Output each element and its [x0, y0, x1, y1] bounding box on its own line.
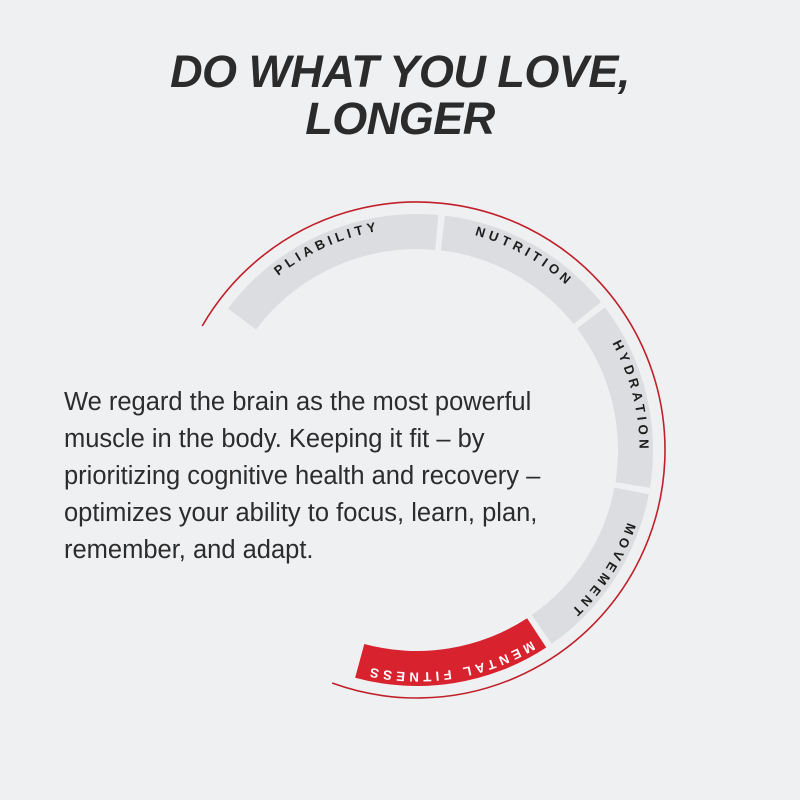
poster-canvas: DO WHAT YOU LOVE, LONGER We regard the b…	[0, 0, 800, 800]
ring-segments	[228, 214, 653, 686]
ring-segment-nutrition[interactable]	[441, 216, 601, 324]
pillars-ring-chart: PLIABILITYNUTRITIONHYDRATIONMOVEMENTMENT…	[0, 0, 800, 800]
ring-svg: PLIABILITYNUTRITIONHYDRATIONMOVEMENTMENT…	[0, 0, 800, 800]
ring-segment-movement[interactable]	[532, 488, 649, 644]
ring-segment-labels: PLIABILITYNUTRITIONHYDRATIONMOVEMENTMENT…	[271, 219, 651, 685]
